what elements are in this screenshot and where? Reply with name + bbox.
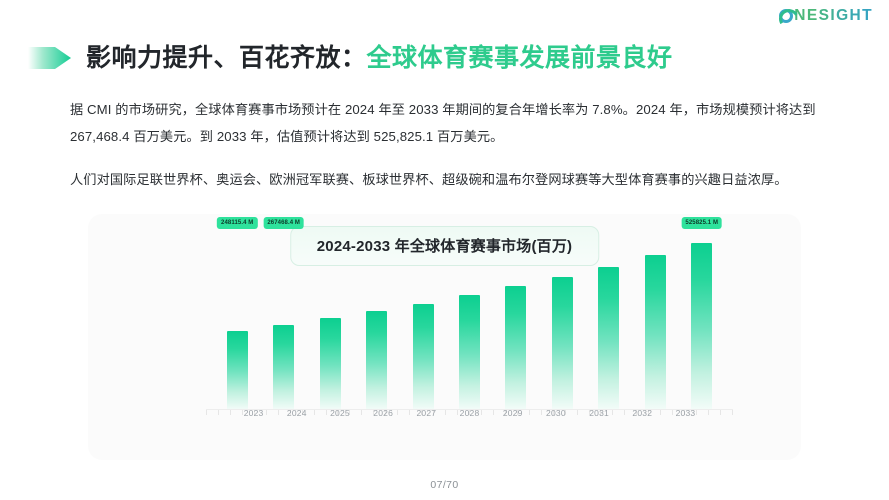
- bar-series: 248115.4 M267468.4 M525825.1 M: [214, 232, 725, 410]
- bar[interactable]: 248115.4 M: [227, 331, 248, 410]
- bar[interactable]: 267468.4 M: [273, 325, 294, 410]
- bar[interactable]: [459, 295, 480, 410]
- paragraph-2: 人们对国际足联世界杯、奥运会、欧洲冠军联赛、板球世界杯、超级碗和温布尔登网球赛等…: [70, 166, 876, 193]
- bar-slot: 267468.4 M: [260, 232, 306, 410]
- logo-text-h: H: [850, 8, 863, 24]
- x-axis-label: 2030: [534, 408, 577, 418]
- brand-logo: NESIGHT: [779, 8, 873, 24]
- logo-text-s: S: [819, 8, 831, 24]
- page-title: 影响力提升、百花齐放：全球体育赛事发展前景良好: [28, 38, 673, 78]
- x-axis-label: 2025: [318, 408, 361, 418]
- x-axis-labels: 2023202420252026202720282029203020312032…: [232, 408, 707, 418]
- bar-slot: 525825.1 M: [679, 232, 725, 410]
- bar-slot: [539, 232, 585, 410]
- bar-slot: [400, 232, 446, 410]
- x-axis-tick: [720, 410, 721, 415]
- bar-slot: [586, 232, 632, 410]
- paragraph-1: 据 CMI 的市场研究，全球体育赛事市场预计在 2024 年至 2033 年期间…: [70, 96, 876, 150]
- bar-slot: [493, 232, 539, 410]
- bar-slot: 248115.4 M: [214, 232, 260, 410]
- x-axis-label: 2033: [664, 408, 707, 418]
- bar[interactable]: [598, 267, 619, 410]
- bar[interactable]: [413, 304, 434, 410]
- x-axis-tick: [230, 410, 231, 415]
- x-axis-label: 2026: [362, 408, 405, 418]
- bar[interactable]: [552, 277, 573, 410]
- x-axis-label: 2029: [491, 408, 534, 418]
- x-axis-tick: [206, 410, 207, 415]
- bar-chart-plot: 248115.4 M267468.4 M525825.1 M 202320242…: [106, 232, 783, 424]
- chart-card: 2024-2033 年全球体育赛事市场(百万) 248115.4 M267468…: [88, 214, 801, 460]
- x-axis-tick: [732, 410, 733, 415]
- x-axis-tick: [708, 410, 709, 415]
- x-axis-label: 2024: [275, 408, 318, 418]
- bar-value-label: 248115.4 M: [217, 217, 257, 229]
- x-axis-label: 2027: [405, 408, 448, 418]
- page-title-highlight: 全球体育赛事发展前景良好: [367, 44, 673, 72]
- page-title-primary: 影响力提升、百花齐放：: [86, 44, 367, 72]
- logo-text-g: G: [836, 8, 849, 24]
- x-axis-tick: [218, 410, 219, 415]
- bar[interactable]: [505, 286, 526, 410]
- page-indicator: 07/70: [0, 479, 889, 491]
- bar[interactable]: [366, 311, 387, 410]
- bar-slot: [353, 232, 399, 410]
- x-axis-label: 2028: [448, 408, 491, 418]
- body-copy: 据 CMI 的市场研究，全球体育赛事市场预计在 2024 年至 2033 年期间…: [70, 96, 876, 193]
- logo-o-icon: [779, 9, 793, 23]
- bar[interactable]: [320, 318, 341, 410]
- logo-text-t: T: [862, 8, 873, 24]
- chevron-right-icon: [28, 44, 72, 72]
- bar-slot: [307, 232, 353, 410]
- bar-value-label: 267468.4 M: [263, 217, 304, 229]
- x-axis-label: 2031: [578, 408, 621, 418]
- bar-slot: [446, 232, 492, 410]
- bar-slot: [632, 232, 678, 410]
- x-axis-label: 2032: [621, 408, 664, 418]
- bar[interactable]: 525825.1 M: [691, 243, 712, 410]
- bar[interactable]: [645, 255, 666, 410]
- bar-value-label: 525825.1 M: [681, 217, 722, 229]
- x-axis-label: 2023: [232, 408, 275, 418]
